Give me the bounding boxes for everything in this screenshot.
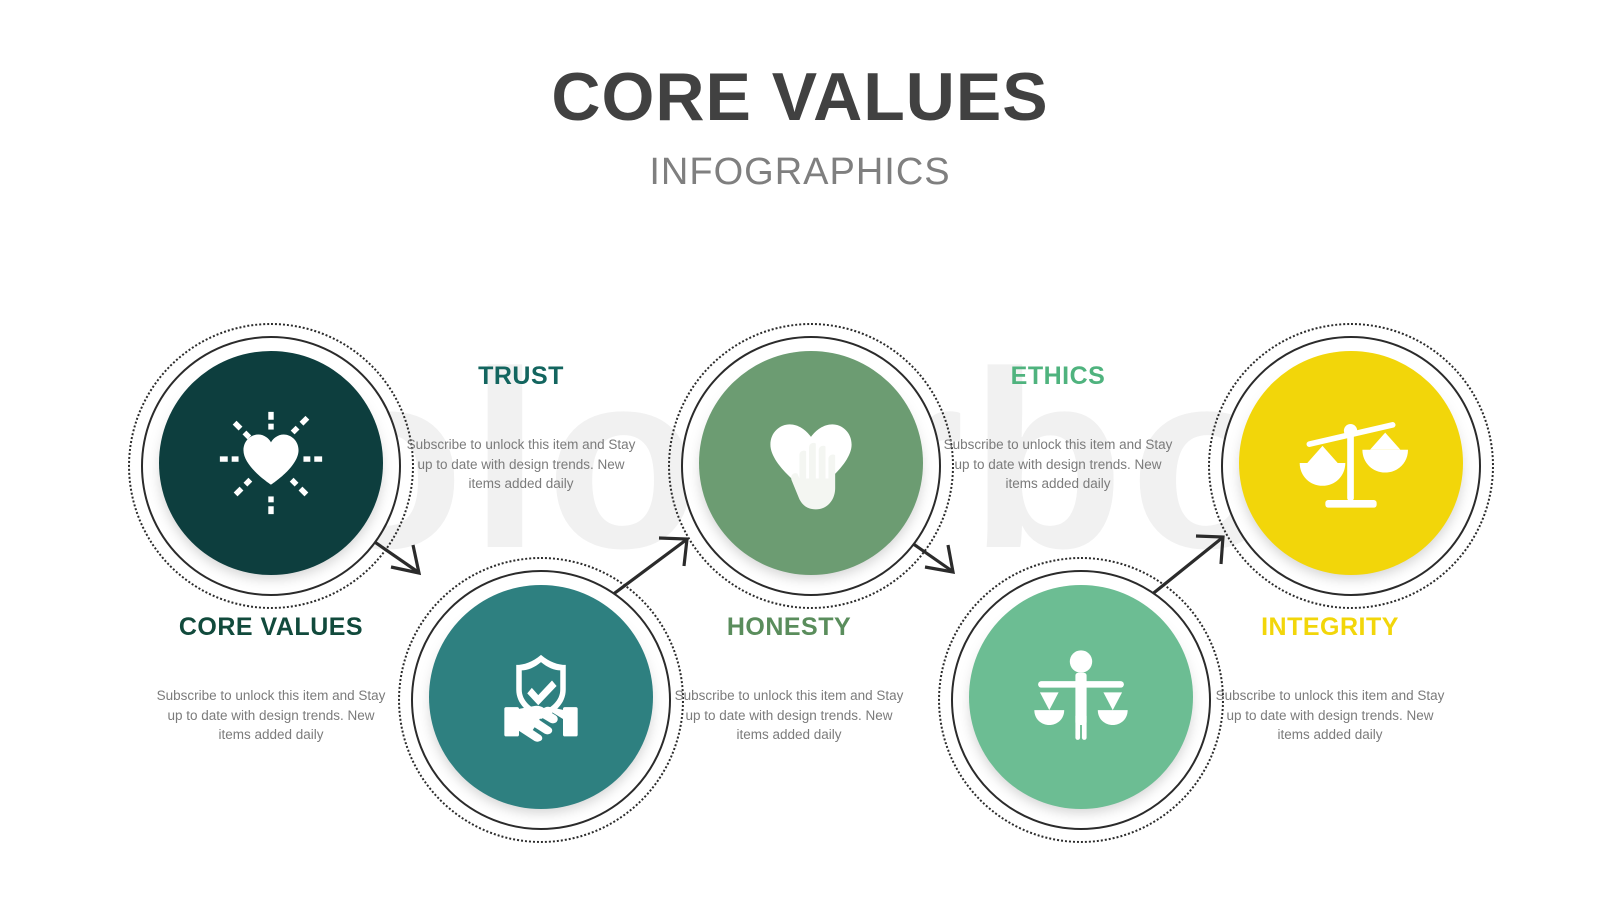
icon-disc-ethics[interactable]: [969, 585, 1193, 809]
heart-hand-icon: [753, 405, 869, 521]
desc-core-values: Subscribe to unlock this item and Stay u…: [151, 686, 391, 745]
heart-rays-icon: [212, 404, 330, 522]
infographic-canvas: colourbox CORE VALUES INFOGRAPHICS: [0, 0, 1600, 901]
desc-honesty: Subscribe to unlock this item and Stay u…: [669, 686, 909, 745]
block-honesty: HONESTY Subscribe to unlock this item an…: [669, 613, 909, 745]
icon-disc-trust[interactable]: [429, 585, 653, 809]
label-ethics: ETHICS: [938, 362, 1178, 391]
desc-trust: Subscribe to unlock this item and Stay u…: [401, 435, 641, 494]
label-integrity: INTEGRITY: [1210, 613, 1450, 642]
block-core-values: CORE VALUES Subscribe to unlock this ite…: [151, 613, 391, 745]
node-honesty[interactable]: [668, 323, 954, 609]
justice-scales-icon: [1294, 406, 1408, 520]
label-trust: TRUST: [401, 362, 641, 391]
block-integrity: INTEGRITY Subscribe to unlock this item …: [1210, 613, 1450, 745]
node-ethics[interactable]: [938, 557, 1224, 843]
label-core-values: CORE VALUES: [151, 613, 391, 642]
block-ethics: ETHICS Subscribe to unlock this item and…: [938, 362, 1178, 494]
page-header: CORE VALUES INFOGRAPHICS: [0, 62, 1600, 194]
icon-disc-core-values[interactable]: [159, 351, 383, 575]
page-subtitle: INFOGRAPHICS: [0, 151, 1600, 194]
shield-handshake-icon: [486, 642, 596, 752]
node-core-values[interactable]: [128, 323, 414, 609]
block-trust: TRUST Subscribe to unlock this item and …: [401, 362, 641, 494]
label-honesty: HONESTY: [669, 613, 909, 642]
icon-disc-integrity[interactable]: [1239, 351, 1463, 575]
node-integrity[interactable]: [1208, 323, 1494, 609]
person-scales-icon: [1025, 641, 1137, 753]
icon-disc-honesty[interactable]: [699, 351, 923, 575]
desc-ethics: Subscribe to unlock this item and Stay u…: [938, 435, 1178, 494]
node-trust[interactable]: [398, 557, 684, 843]
desc-integrity: Subscribe to unlock this item and Stay u…: [1210, 686, 1450, 745]
page-title: CORE VALUES: [0, 62, 1600, 133]
